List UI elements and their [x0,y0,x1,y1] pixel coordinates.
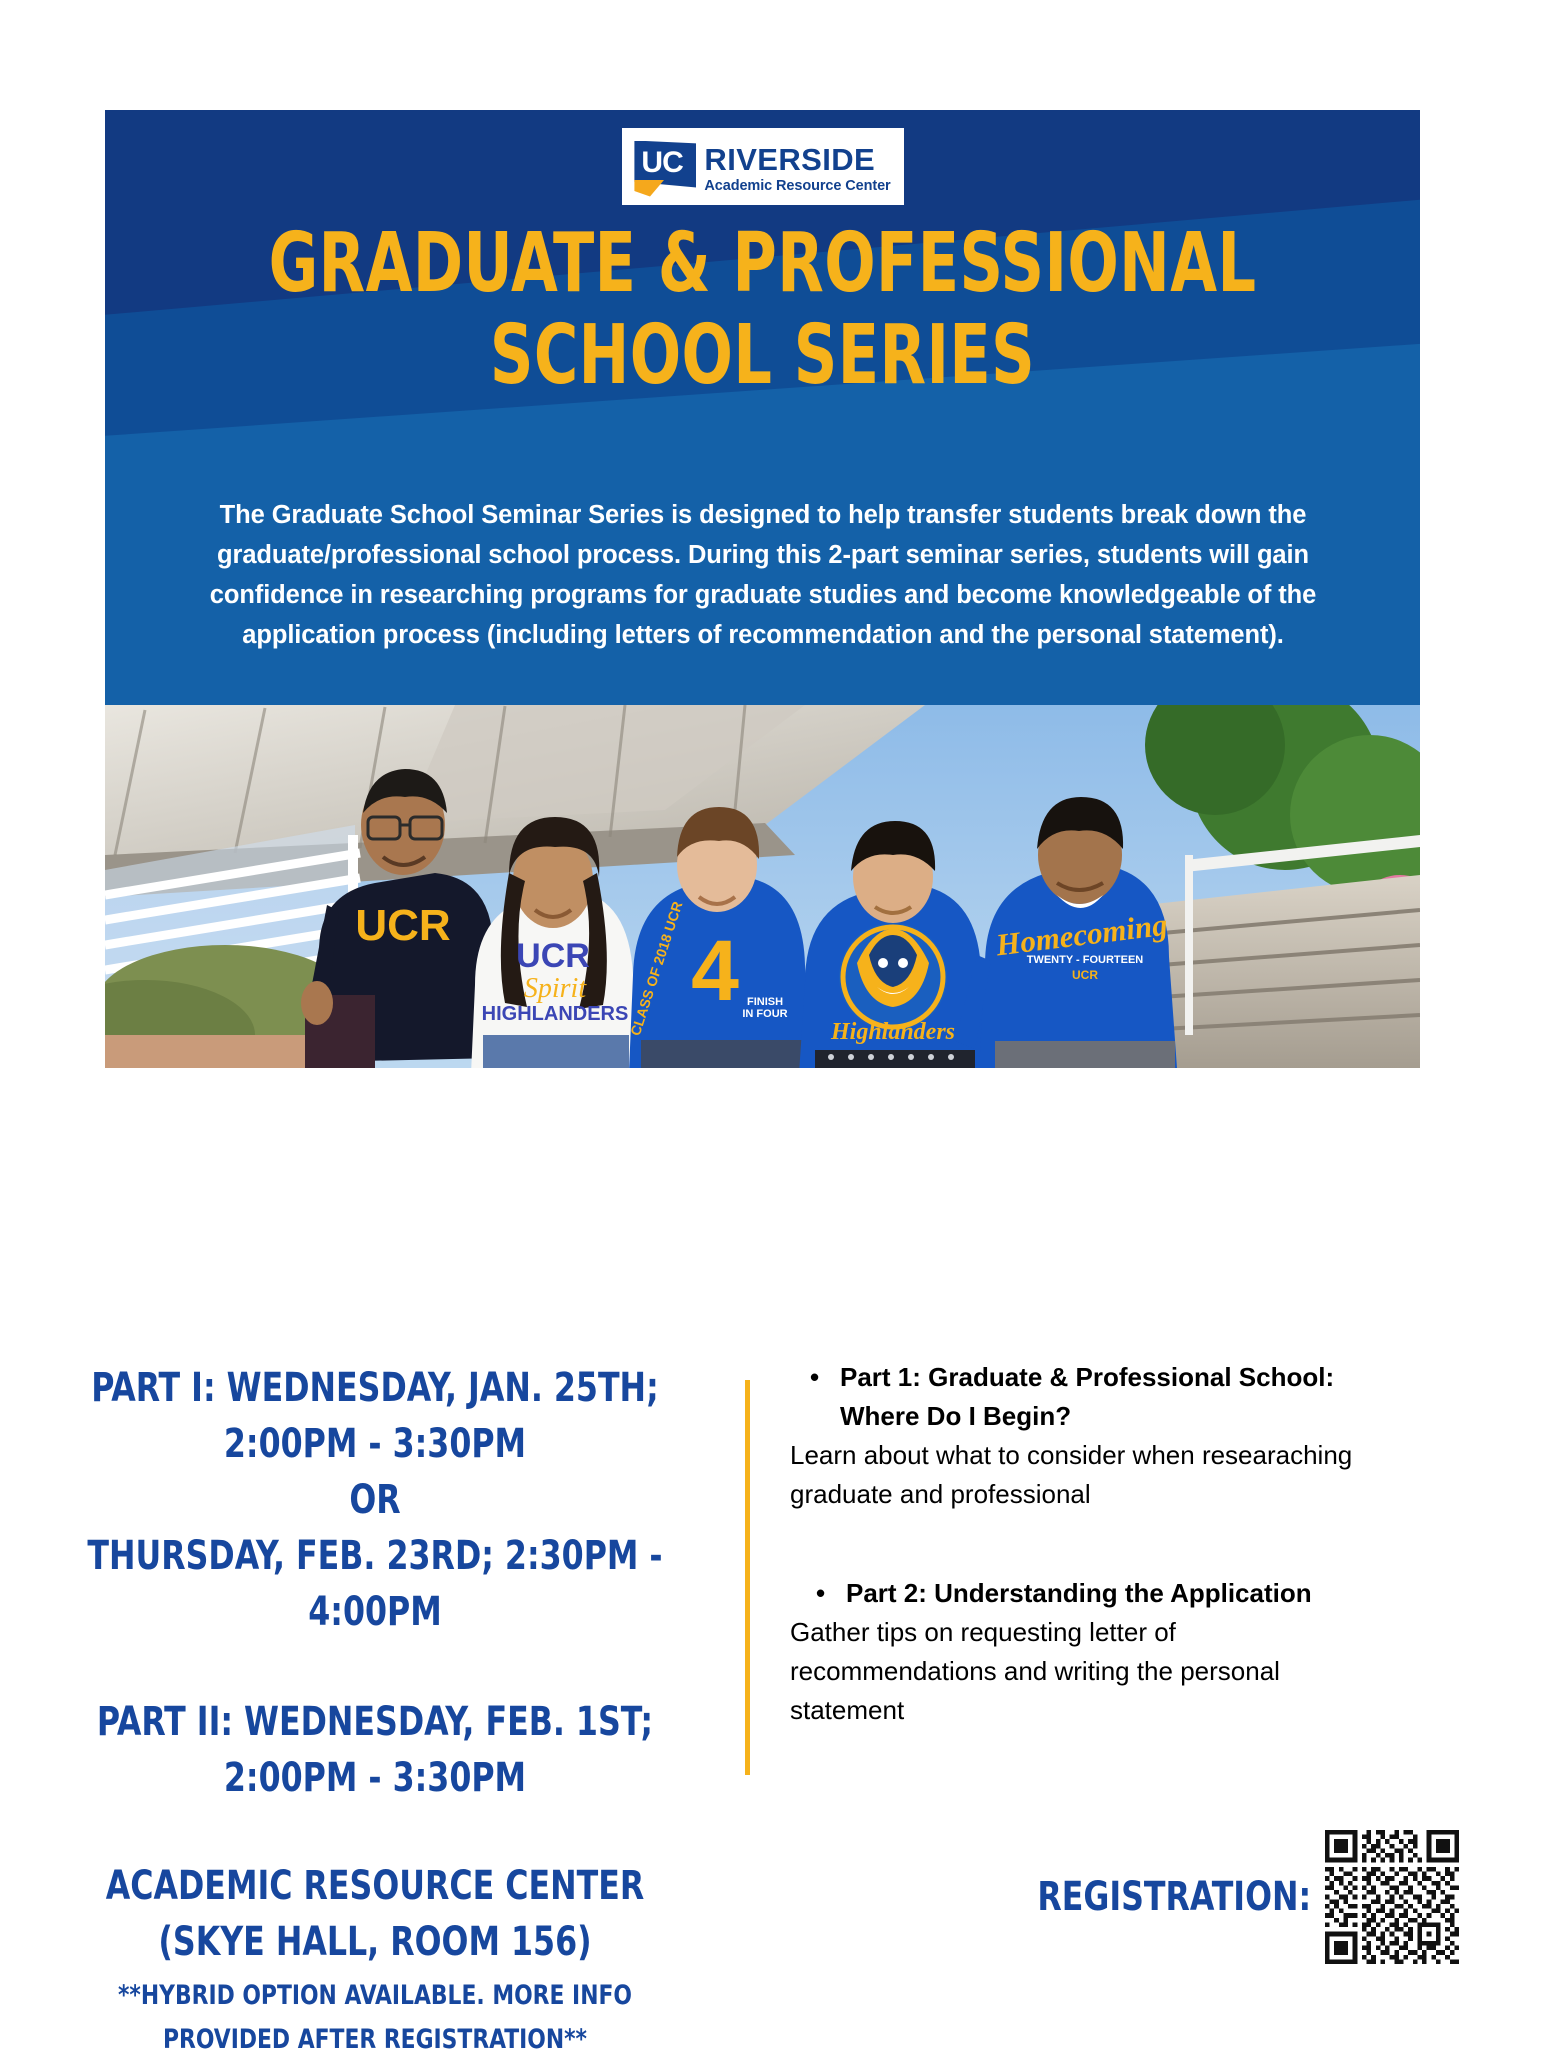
svg-text:IN FOUR: IN FOUR [742,1008,787,1020]
session-1-heading-row: • Part 1: Graduate & Professional School… [810,1358,1370,1436]
session-block-2: • Part 2: Understanding the Application … [790,1574,1370,1730]
svg-text:UCR: UCR [355,901,450,950]
registration-label: REGISTRATION: [1037,1875,1311,1919]
sessions-column: • Part 1: Graduate & Professional School… [790,1358,1370,1730]
qr-code-icon[interactable] [1325,1830,1459,1964]
uc-logo-mark-icon: UC [634,141,696,197]
venue-location: ACADEMIC RESOURCE CENTER (SKYE HALL, ROO… [63,1858,688,1970]
part1-option1-date: PART I: WEDNESDAY, JAN. 25TH; 2:00PM - 3… [63,1360,688,1472]
ucr-arc-logo: UC RIVERSIDE Academic Resource Center [622,128,904,205]
logo-wordmark: RIVERSIDE [704,143,890,176]
svg-text:UCR: UCR [516,937,590,975]
bullet-icon: • [810,1358,840,1397]
session-2-body: Gather tips on requesting letter of reco… [790,1613,1370,1730]
bullet-icon: • [816,1574,846,1613]
session-1-heading: Part 1: Graduate & Professional School: … [840,1358,1370,1436]
session-1-body: Learn about what to consider when resear… [790,1436,1370,1514]
or-label: OR [63,1472,688,1528]
details-section: PART I: WEDNESDAY, JAN. 25TH; 2:00PM - 3… [0,1340,1545,2000]
registration-area[interactable]: REGISTRATION: [1000,1830,1459,1964]
svg-text:Spirit: Spirit [524,973,587,1004]
svg-text:4: 4 [691,923,739,1019]
hero-banner: UC RIVERSIDE Academic Resource Center GR… [105,110,1420,705]
session-block-1: • Part 1: Graduate & Professional School… [790,1358,1370,1514]
hybrid-option-note: **HYBRID OPTION AVAILABLE. MORE INFO PRO… [56,1974,695,2062]
schedule-spacer [20,1640,730,1694]
students-photo: UCR UCR Spirit HIGHLANDERS 4 CLASS OF 20 [105,705,1420,1068]
hero-description: The Graduate School Seminar Series is de… [153,495,1373,655]
part2-date: PART II: WEDNESDAY, FEB. 1ST; 2:00PM - 3… [63,1694,688,1806]
schedule-column: PART I: WEDNESDAY, JAN. 25TH; 2:00PM - 3… [20,1360,730,2062]
svg-text:FINISH: FINISH [747,996,783,1008]
session-2-heading: Part 2: Understanding the Application [846,1574,1370,1613]
vertical-divider [745,1380,750,1775]
uc-mark-text: UC [641,147,682,179]
svg-text:TWENTY - FOURTEEN: TWENTY - FOURTEEN [1027,954,1144,966]
part1-option2-date: THURSDAY, FEB. 23RD; 2:30PM - 4:00PM [63,1528,688,1640]
page-title: GRADUATE & PROFESSIONAL SCHOOL SERIES [223,218,1301,402]
svg-text:HIGHLANDERS: HIGHLANDERS [482,1003,629,1025]
svg-text:UCR: UCR [1072,968,1098,982]
logo-subtitle: Academic Resource Center [704,179,890,194]
session-2-heading-row: • Part 2: Understanding the Application [816,1574,1370,1613]
svg-text:Highlanders: Highlanders [830,1019,955,1045]
